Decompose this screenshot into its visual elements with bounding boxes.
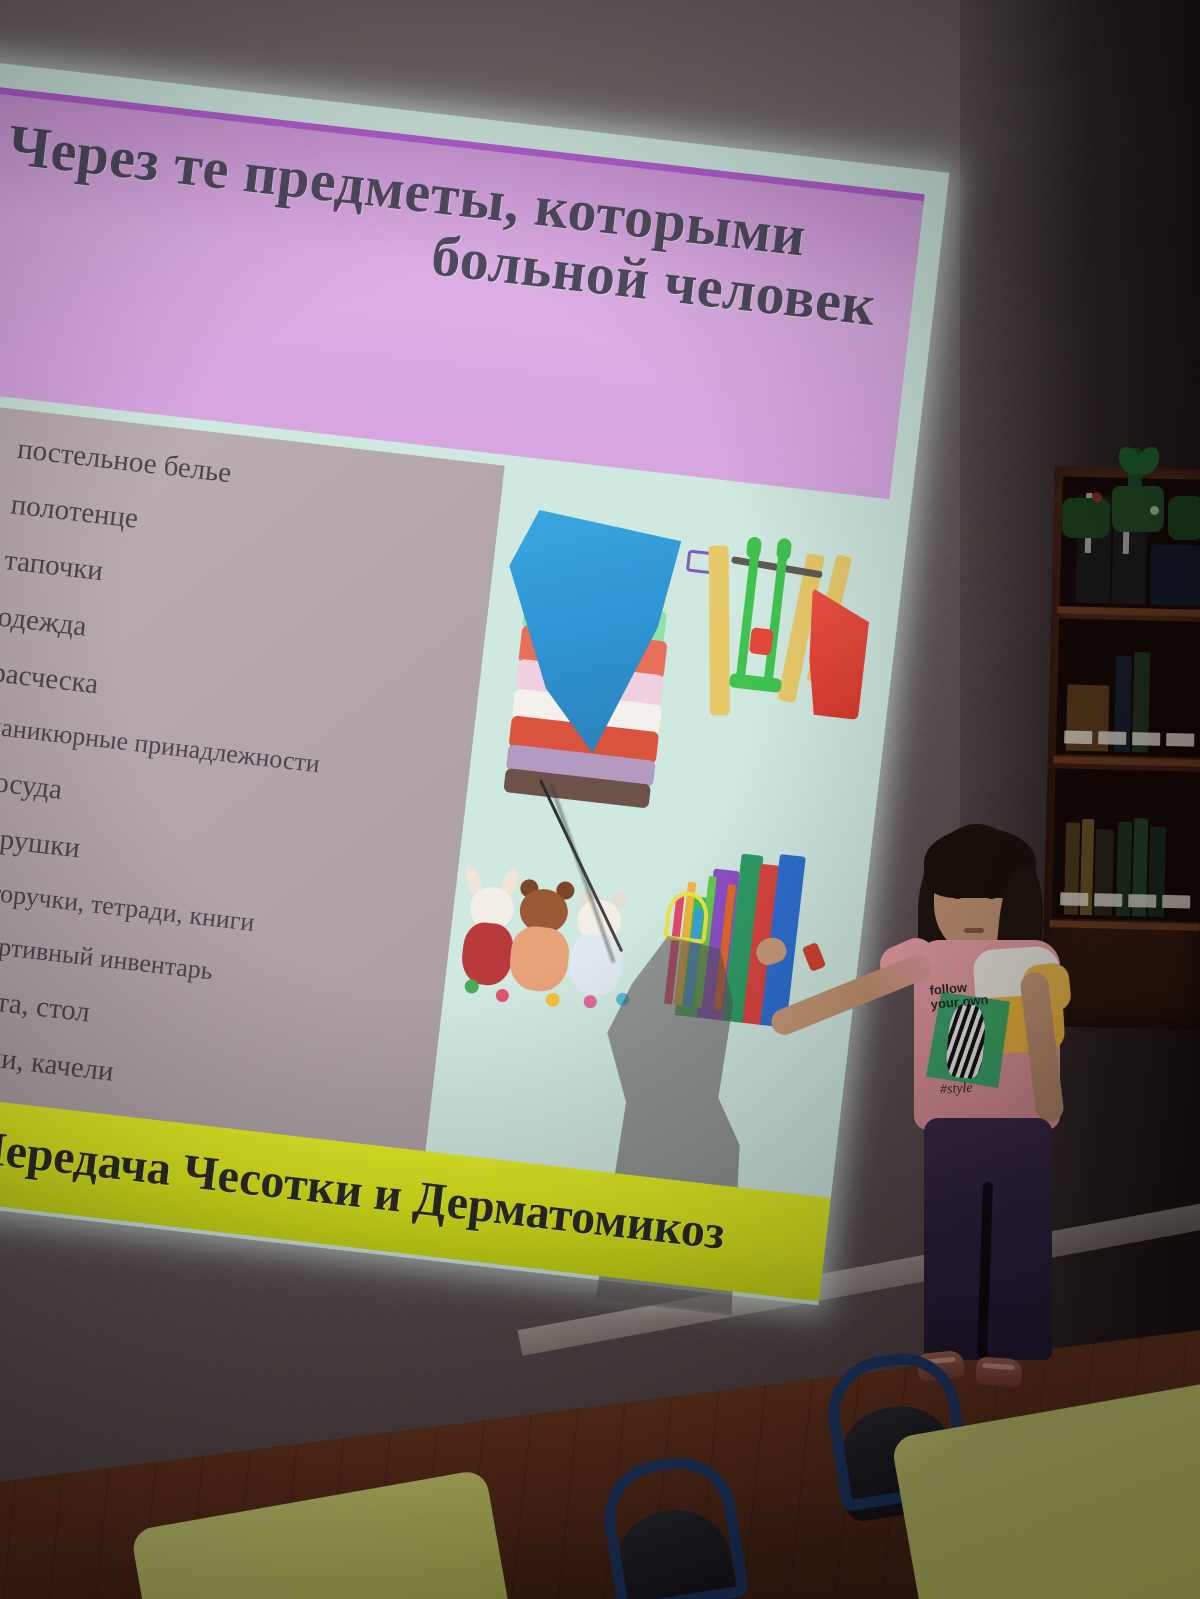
slide-surface: Через те предметы, которыми больной чело… [0,58,949,1305]
projected-slide: Через те предметы, которыми больной чело… [0,58,949,1305]
towel-stack-image [479,496,708,777]
playground-swing-image [684,525,876,743]
eye-right [986,892,997,899]
slide-bullet-list: постельное белье полотенце тапочки одежд… [0,400,505,1125]
slide-bullet-panel: постельное белье полотенце тапочки одежд… [0,400,505,1201]
mouth [964,928,984,933]
eye-left [952,892,963,899]
sandal-right [975,1356,1023,1387]
classroom-photo: Через те предметы, которыми больной чело… [0,0,1200,1599]
